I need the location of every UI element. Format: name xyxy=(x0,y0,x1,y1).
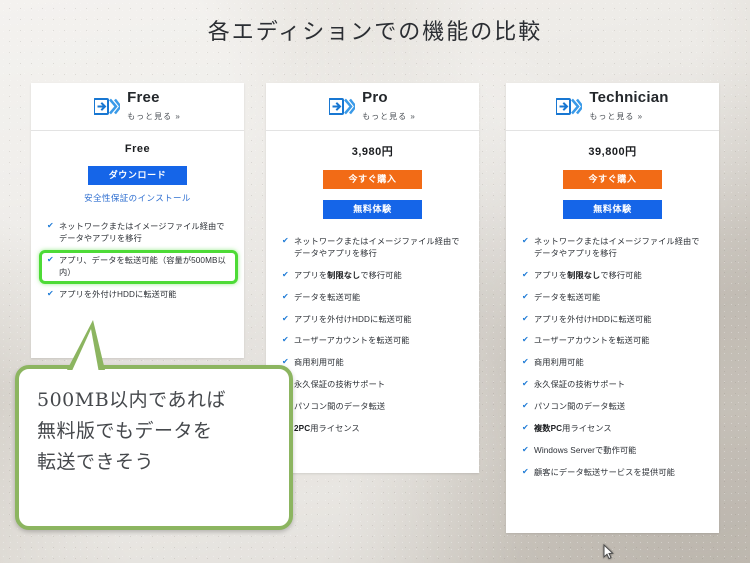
feature-item: ✔商用利用可能 xyxy=(282,357,467,369)
feature-item: ✔データを転送可能 xyxy=(522,292,707,304)
feature-text: 商用利用可能 xyxy=(534,357,584,369)
callout-line-2: 無料版でもデータを xyxy=(37,416,271,447)
card-body: 3,980円 今すぐ購入 無料体験 ✔ネットワークまたはイメージファイル経由でデ… xyxy=(266,131,479,435)
feature-item: ✔永久保証の技術サポート xyxy=(522,379,707,391)
brand-logo-icon xyxy=(556,98,582,115)
check-icon: ✔ xyxy=(522,336,530,344)
card-header: Pro もっと見る » xyxy=(266,83,479,131)
feature-text: アプリ、データを転送可能（容量が500MB以内） xyxy=(59,255,232,279)
feature-item: ✔パソコン間のデータ転送 xyxy=(282,401,467,413)
feature-item: ✔アプリを外付けHDDに転送可能 xyxy=(522,314,707,326)
brand-logo-icon xyxy=(329,98,355,115)
price-label: 39,800円 xyxy=(506,143,719,159)
feature-item: ✔アプリを制限なしで移行可能 xyxy=(522,270,707,282)
brand-logo-icon xyxy=(94,98,120,115)
check-icon: ✔ xyxy=(522,446,530,454)
free-trial-button[interactable]: 無料体験 xyxy=(563,200,662,219)
card-header-text: Pro もっと見る » xyxy=(362,90,416,124)
pricing-card-technician[interactable]: Technician もっと見る » 39,800円 今すぐ購入 無料体験 ✔ネ… xyxy=(506,83,719,533)
feature-item: ✔永久保証の技術サポート xyxy=(282,379,467,391)
more-link[interactable]: もっと見る » xyxy=(127,112,181,121)
feature-text: アプリを外付けHDDに転送可能 xyxy=(294,314,412,326)
feature-text: ネットワークまたはイメージファイル経由でデータやアプリを移行 xyxy=(534,236,707,260)
check-icon: ✔ xyxy=(522,237,530,245)
check-icon: ✔ xyxy=(522,402,530,410)
feature-item: ✔商用利用可能 xyxy=(522,357,707,369)
card-header-text: Technician もっと見る » xyxy=(589,90,668,124)
check-icon: ✔ xyxy=(282,336,290,344)
feature-text: ユーザーアカウントを転送可能 xyxy=(294,335,410,347)
feature-text: 永久保証の技術サポート xyxy=(534,379,625,391)
check-icon: ✔ xyxy=(282,271,290,279)
feature-item: ✔顧客にデータ転送サービスを提供可能 xyxy=(522,467,707,479)
check-icon: ✔ xyxy=(522,424,530,432)
check-icon: ✔ xyxy=(522,315,530,323)
check-icon: ✔ xyxy=(522,293,530,301)
card-header-text: Free もっと見る » xyxy=(127,90,181,124)
buy-now-button[interactable]: 今すぐ購入 xyxy=(323,170,422,189)
callout-line-1: 500MB以内であれば xyxy=(37,385,271,416)
callout-tail-fill xyxy=(71,329,99,373)
card-body: Free ダウンロード 安全性保証のインストール ✔ネットワークまたはイメージフ… xyxy=(31,131,244,300)
more-link[interactable]: もっと見る » xyxy=(362,112,416,121)
feature-text: 2PC用ライセンス xyxy=(294,423,360,435)
callout-line-3: 転送できそう xyxy=(37,447,271,478)
feature-text: アプリを外付けHDDに転送可能 xyxy=(534,314,652,326)
feature-text: データを転送可能 xyxy=(294,292,360,304)
feature-item: ✔2PC用ライセンス xyxy=(282,423,467,435)
edition-name: Free xyxy=(127,89,160,106)
annotation-callout: 500MB以内であれば 無料版でもデータを 転送できそう xyxy=(15,365,293,530)
feature-text: 永久保証の技術サポート xyxy=(294,379,385,391)
feature-item: ✔ネットワークまたはイメージファイル経由でデータやアプリを移行 xyxy=(522,236,707,260)
feature-list: ✔ネットワークまたはイメージファイル経由でデータやアプリを移行✔アプリを制限なし… xyxy=(266,236,479,435)
price-label: 3,980円 xyxy=(266,143,479,159)
feature-list: ✔ネットワークまたはイメージファイル経由でデータやアプリを移行✔アプリ、データを… xyxy=(31,221,244,300)
check-icon: ✔ xyxy=(282,293,290,301)
check-icon: ✔ xyxy=(522,271,530,279)
feature-item: ✔Windows Serverで動作可能 xyxy=(522,445,707,457)
feature-item: ✔アプリ、データを転送可能（容量が500MB以内） xyxy=(47,255,232,279)
feature-text: データを転送可能 xyxy=(534,292,600,304)
feature-item: ✔アプリを外付けHDDに転送可能 xyxy=(47,289,232,301)
feature-item: ✔アプリを外付けHDDに転送可能 xyxy=(282,314,467,326)
feature-text: パソコン間のデータ転送 xyxy=(534,401,625,413)
check-icon: ✔ xyxy=(282,315,290,323)
free-trial-button[interactable]: 無料体験 xyxy=(323,200,422,219)
feature-text: ネットワークまたはイメージファイル経由でデータやアプリを移行 xyxy=(59,221,232,245)
feature-text: アプリを制限なしで移行可能 xyxy=(534,270,642,282)
check-icon: ✔ xyxy=(522,380,530,388)
feature-text: ネットワークまたはイメージファイル経由でデータやアプリを移行 xyxy=(294,236,467,260)
card-body: 39,800円 今すぐ購入 無料体験 ✔ネットワークまたはイメージファイル経由で… xyxy=(506,131,719,479)
feature-text: Windows Serverで動作可能 xyxy=(534,445,636,457)
feature-text: 複数PC用ライセンス xyxy=(534,423,612,435)
feature-item: ✔複数PC用ライセンス xyxy=(522,423,707,435)
edition-name: Pro xyxy=(362,89,388,106)
check-icon: ✔ xyxy=(47,256,55,264)
feature-item: ✔ネットワークまたはイメージファイル経由でデータやアプリを移行 xyxy=(47,221,232,245)
download-button[interactable]: ダウンロード xyxy=(88,166,187,185)
feature-text: アプリを外付けHDDに転送可能 xyxy=(59,289,177,301)
page-title: 各エディションでの機能の比較 xyxy=(0,14,750,46)
card-header: Technician もっと見る » xyxy=(506,83,719,131)
feature-text: アプリを制限なしで移行可能 xyxy=(294,270,402,282)
feature-item: ✔データを転送可能 xyxy=(282,292,467,304)
feature-item: ✔パソコン間のデータ転送 xyxy=(522,401,707,413)
pricing-card-free[interactable]: Free もっと見る » Free ダウンロード 安全性保証のインストール ✔ネ… xyxy=(31,83,244,358)
feature-list: ✔ネットワークまたはイメージファイル経由でデータやアプリを移行✔アプリを制限なし… xyxy=(506,236,719,479)
feature-item: ✔ユーザーアカウントを転送可能 xyxy=(522,335,707,347)
pricing-card-pro[interactable]: Pro もっと見る » 3,980円 今すぐ購入 無料体験 ✔ネットワークまたは… xyxy=(266,83,479,473)
more-link[interactable]: もっと見る » xyxy=(589,112,643,121)
feature-item: ✔アプリを制限なしで移行可能 xyxy=(282,270,467,282)
secure-install-link[interactable]: 安全性保証のインストール xyxy=(31,192,244,204)
feature-item: ✔ユーザーアカウントを転送可能 xyxy=(282,335,467,347)
feature-item: ✔ネットワークまたはイメージファイル経由でデータやアプリを移行 xyxy=(282,236,467,260)
check-icon: ✔ xyxy=(522,358,530,366)
card-header: Free もっと見る » xyxy=(31,83,244,131)
feature-text: 商用利用可能 xyxy=(294,357,344,369)
price-label: Free xyxy=(31,143,244,155)
check-icon: ✔ xyxy=(47,222,55,230)
check-icon: ✔ xyxy=(47,290,55,298)
feature-text: 顧客にデータ転送サービスを提供可能 xyxy=(534,467,675,479)
check-icon: ✔ xyxy=(282,237,290,245)
buy-now-button[interactable]: 今すぐ購入 xyxy=(563,170,662,189)
check-icon: ✔ xyxy=(522,468,530,476)
feature-text: ユーザーアカウントを転送可能 xyxy=(534,335,650,347)
mouse-cursor-icon xyxy=(603,544,614,560)
edition-name: Technician xyxy=(589,89,668,106)
feature-text: パソコン間のデータ転送 xyxy=(294,401,385,413)
